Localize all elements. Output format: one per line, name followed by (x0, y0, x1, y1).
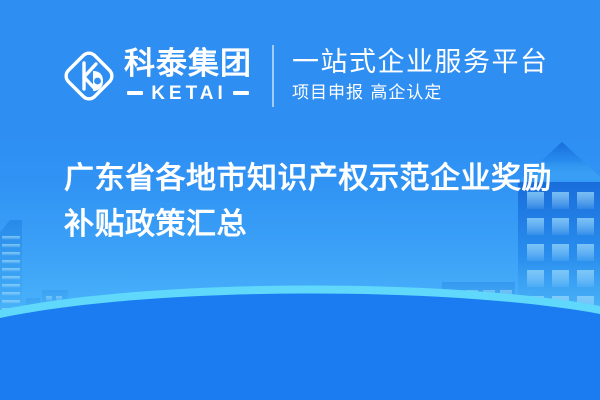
tagline-main: 一站式企业服务平台 (292, 48, 552, 78)
brand-header: 科泰集团 KETAI 一站式企业服务平台 项目申报 高企认定 (62, 40, 552, 112)
tagline-sub: 项目申报 高企认定 (292, 82, 552, 104)
tagline-block: 一站式企业服务平台 项目申报 高企认定 (292, 48, 552, 104)
logo-dash-left-icon (127, 91, 143, 95)
page-title: 广东省各地市知识产权示范企业奖励补贴政策汇总 (64, 156, 562, 247)
logo-dash-right-icon (233, 91, 249, 95)
ketai-diamond-kd-logo-icon (62, 47, 118, 105)
logo-en-row: KETAI (124, 84, 252, 103)
header-vertical-divider (272, 45, 274, 107)
logo-company-cn: 科泰集团 (124, 49, 252, 81)
promo-banner: 科泰集团 KETAI 一站式企业服务平台 项目申报 高企认定 广东省各地市知识产… (0, 0, 600, 400)
logo-company-en: KETAI (143, 84, 233, 103)
bottom-curve-panel (0, 270, 600, 400)
logo-wordmark: 科泰集团 KETAI (124, 49, 252, 103)
